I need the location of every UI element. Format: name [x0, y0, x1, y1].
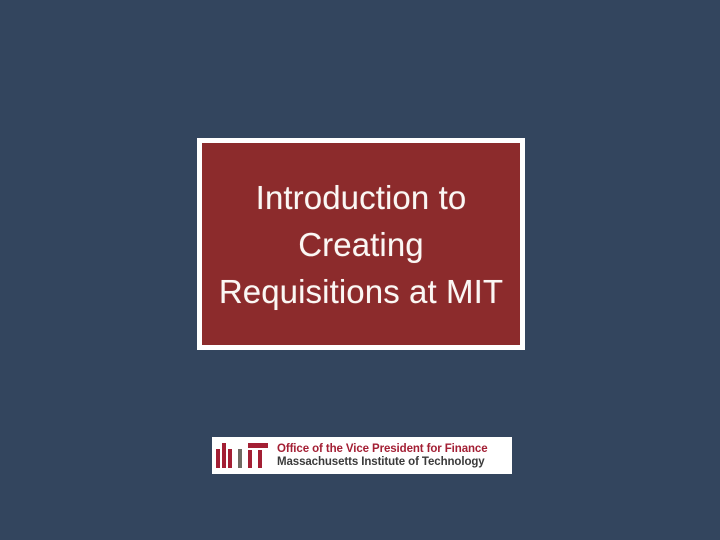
- presentation-slide: Introduction to Creating Requisitions at…: [0, 0, 720, 540]
- title-box: Introduction to Creating Requisitions at…: [197, 138, 525, 350]
- title-line-1: Introduction to: [219, 174, 503, 221]
- mit-logo-icon: [216, 443, 268, 468]
- logo-institution-name: Massachusetts Institute of Technology: [277, 456, 488, 468]
- logo-text-block: Office of the Vice President for Finance…: [277, 443, 488, 469]
- slide-title: Introduction to Creating Requisitions at…: [219, 174, 503, 315]
- title-line-3: Requisitions at MIT: [219, 268, 503, 315]
- title-line-2: Creating: [219, 221, 503, 268]
- logo-office-name: Office of the Vice President for Finance: [277, 443, 488, 455]
- mit-logo-lockup: Office of the Vice President for Finance…: [212, 437, 512, 474]
